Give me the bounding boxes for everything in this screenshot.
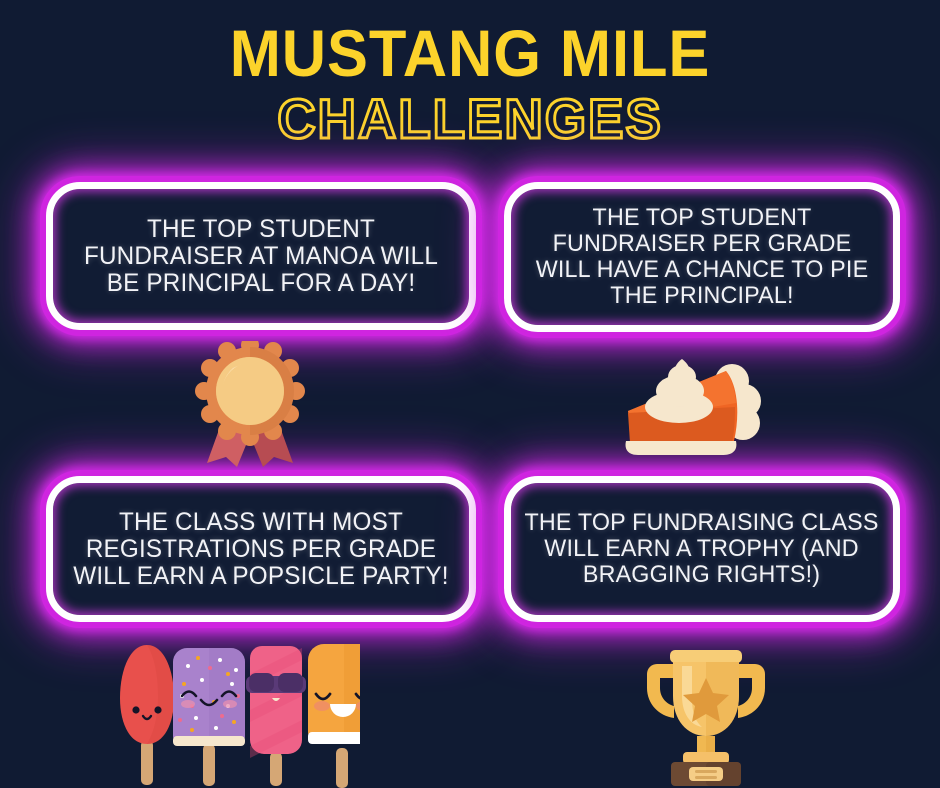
- pie-slice-icon: [622, 355, 768, 466]
- popsicle-red: [120, 645, 174, 785]
- challenge-line: FUNDRAISER AT MANOA WILL: [69, 243, 453, 270]
- challenge-line: THE TOP STUDENT: [69, 216, 453, 243]
- challenge-line: REGISTRATIONS PER GRADE: [69, 536, 453, 563]
- challenge-line: FUNDRAISER PER GRADE: [526, 231, 877, 257]
- challenge-card-principal-for-a-day: THE TOP STUDENT FUNDRAISER AT MANOA WILL…: [46, 182, 476, 330]
- challenge-line: WILL EARN A POPSICLE PARTY!: [69, 563, 453, 590]
- page-title: MUSTANG MILE: [33, 18, 907, 88]
- trophy-icon: [645, 640, 767, 788]
- popsicle-orange: [308, 644, 360, 788]
- poster-title-block: MUSTANG MILE CHALLENGES: [0, 18, 940, 148]
- challenge-text-pie-the-principal: THE TOP STUDENT FUNDRAISER PER GRADE WIL…: [517, 205, 888, 309]
- challenge-line: THE TOP FUNDRAISING CLASS: [525, 510, 879, 536]
- challenge-text-principal-for-a-day: THE TOP STUDENT FUNDRAISER AT MANOA WILL…: [59, 216, 463, 297]
- challenge-line: WILL EARN A TROPHY (AND: [525, 536, 879, 562]
- challenge-line: THE PRINCIPAL!: [526, 283, 877, 309]
- challenge-card-popsicle-party: THE CLASS WITH MOST REGISTRATIONS PER GR…: [46, 476, 476, 622]
- award-ribbon-icon: [193, 341, 307, 472]
- challenge-line: WILL HAVE A CHANCE TO PIE: [526, 257, 877, 283]
- challenge-text-popsicle-party: THE CLASS WITH MOST REGISTRATIONS PER GR…: [59, 509, 463, 590]
- challenge-line: BRAGGING RIGHTS!): [525, 562, 879, 588]
- popsicles-icon: [110, 640, 360, 788]
- challenge-card-pie-the-principal: THE TOP STUDENT FUNDRAISER PER GRADE WIL…: [504, 182, 900, 332]
- challenge-line: BE PRINCIPAL FOR A DAY!: [69, 270, 453, 297]
- challenge-card-trophy: THE TOP FUNDRAISING CLASS WILL EARN A TR…: [504, 476, 900, 622]
- page-subtitle: CHALLENGES: [24, 90, 917, 148]
- popsicle-purple: [173, 648, 245, 786]
- challenge-line: THE TOP STUDENT: [526, 205, 877, 231]
- popsicle-pink: [246, 646, 306, 786]
- challenge-line: THE CLASS WITH MOST: [69, 509, 453, 536]
- poster-canvas: MUSTANG MILE CHALLENGES THE TOP STUDENT …: [0, 0, 940, 788]
- challenge-text-trophy: THE TOP FUNDRAISING CLASS WILL EARN A TR…: [515, 510, 889, 588]
